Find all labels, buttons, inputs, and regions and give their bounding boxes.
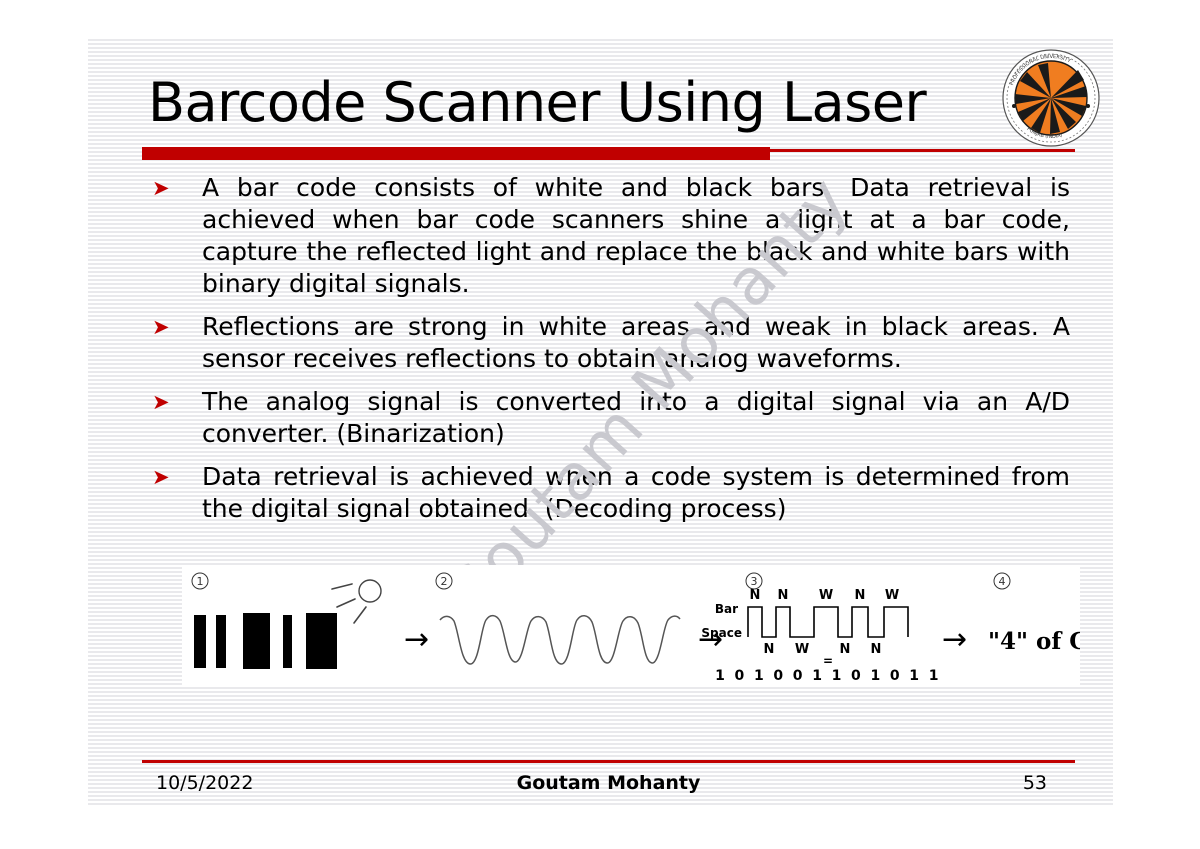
bullet-arrow-icon: ➤ xyxy=(150,461,202,493)
svg-text:→: → xyxy=(404,622,429,657)
arrow-icon-1: → xyxy=(404,622,429,657)
barcode-process-diagram: 1 → 2 xyxy=(182,565,1080,685)
equals-sign: = xyxy=(823,654,833,668)
bullet-arrow-icon: ➤ xyxy=(150,172,202,204)
footer-author: Goutam Mohanty xyxy=(142,772,1075,794)
binary-string: 1 0 1 0 0 1 1 0 1 0 1 1 xyxy=(715,668,941,684)
svg-text:1: 1 xyxy=(197,575,204,588)
analog-waveform xyxy=(440,616,680,664)
svg-text:N: N xyxy=(871,642,882,657)
slide: Barcode Scanner Using Laser xyxy=(0,0,1200,849)
bullet-text-4: Data retrieval is achieved when a code s… xyxy=(202,461,1070,525)
light-source-icon xyxy=(332,580,381,623)
footer: 10/5/2022 Goutam Mohanty 53 xyxy=(142,768,1075,802)
svg-text:3: 3 xyxy=(751,575,758,588)
arrow-icon-3: → xyxy=(942,622,967,657)
bar-width-labels: N N W N W xyxy=(750,588,900,603)
svg-text:N: N xyxy=(778,588,789,603)
svg-text:W: W xyxy=(885,588,899,603)
bar-label: Bar xyxy=(715,602,738,616)
bullet-item-1: ➤ A bar code consists of white and black… xyxy=(150,172,1070,300)
bullet-list: ➤ A bar code consists of white and black… xyxy=(150,172,1070,536)
svg-text:N: N xyxy=(750,588,761,603)
decoded-character-text: "4" of CODE 39 xyxy=(988,628,1080,655)
bullet-arrow-icon: ➤ xyxy=(150,311,202,343)
svg-text:→: → xyxy=(942,622,967,657)
barcode-bars xyxy=(194,613,337,669)
svg-text:N: N xyxy=(840,642,851,657)
svg-text:N: N xyxy=(764,642,775,657)
bullet-item-3: ➤ The analog signal is converted into a … xyxy=(150,386,1070,450)
footer-page-number: 53 xyxy=(1023,772,1047,794)
space-label: Space xyxy=(701,626,742,640)
step-1-number: 1 xyxy=(192,573,208,589)
page-title: Barcode Scanner Using Laser xyxy=(148,68,978,138)
bullet-text-2: Reflections are strong in white areas an… xyxy=(202,311,1070,375)
title-block: Barcode Scanner Using Laser xyxy=(148,68,978,142)
university-logo: PROFESSIONAL UNIVERSITY PUNJAB (INDIA) xyxy=(1000,48,1102,148)
digital-square-wave xyxy=(748,607,908,637)
step-3-number: 3 xyxy=(746,573,762,589)
title-underline-thin xyxy=(770,149,1075,152)
bullet-item-4: ➤ Data retrieval is achieved when a code… xyxy=(150,461,1070,525)
step-4-number: 4 xyxy=(994,573,1010,589)
svg-text:W: W xyxy=(819,588,833,603)
title-underline-thick xyxy=(142,147,770,160)
svg-text:4: 4 xyxy=(999,575,1006,588)
svg-text:W: W xyxy=(795,642,809,657)
svg-text:2: 2 xyxy=(441,575,448,588)
bullet-text-1: A bar code consists of white and black b… xyxy=(202,172,1070,300)
svg-text:N: N xyxy=(855,588,866,603)
bullet-text-3: The analog signal is converted into a di… xyxy=(202,386,1070,450)
bullet-arrow-icon: ➤ xyxy=(150,386,202,418)
bullet-item-2: ➤ Reflections are strong in white areas … xyxy=(150,311,1070,375)
footer-divider xyxy=(142,760,1075,763)
step-2-number: 2 xyxy=(436,573,452,589)
